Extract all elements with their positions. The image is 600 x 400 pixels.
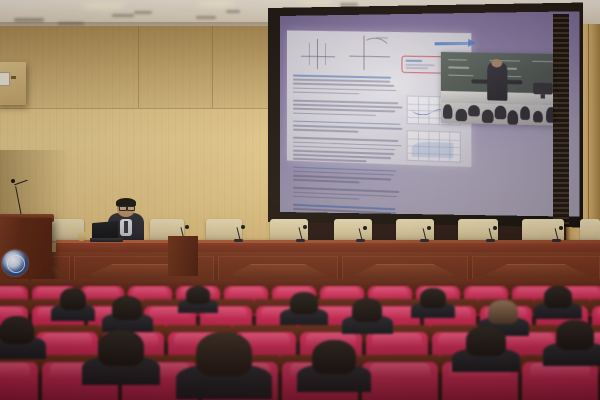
mic-head-4 <box>427 226 431 230</box>
audience-head-12 <box>466 326 506 356</box>
wall-upper-shadow <box>0 26 286 108</box>
eyeglasses-left-lens <box>119 206 127 211</box>
screen-vignette <box>280 11 580 216</box>
audience-head-11 <box>312 340 356 374</box>
mic-base-3 <box>356 239 365 242</box>
seat-highlight <box>372 333 422 347</box>
head-table-chair-4 <box>334 219 372 241</box>
ceiling-vent-4 <box>196 16 216 19</box>
wall-box-indicator <box>11 76 16 79</box>
head-table-edge <box>56 240 600 243</box>
wall-seam-v-1 <box>138 26 139 108</box>
podium-emblem-ring <box>7 255 25 273</box>
audience-head-5 <box>420 288 446 308</box>
ceiling-light-1 <box>196 1 236 7</box>
wall-seam-v-2 <box>212 26 213 108</box>
seat-highlight <box>468 287 503 298</box>
mic-base-1 <box>234 239 243 242</box>
audience-head-1 <box>112 296 142 320</box>
mic-base-2 <box>296 239 305 242</box>
projection-screen <box>280 11 580 216</box>
audience-head-9 <box>98 330 144 366</box>
audience-seat <box>362 362 438 400</box>
seat-highlight <box>0 363 30 378</box>
ceiling-vent-2 <box>112 14 134 17</box>
audience-head-10 <box>196 332 252 376</box>
audience-head-4 <box>352 298 382 322</box>
lecture-hall-photo <box>0 0 600 400</box>
screen-right-edge <box>553 14 569 226</box>
mic-base-5 <box>486 239 495 242</box>
audience-head-0 <box>60 288 86 310</box>
secondary-lectern <box>168 236 198 276</box>
wall-seam-0 <box>0 108 286 109</box>
ceiling-vent-5 <box>226 10 240 13</box>
ceiling-light-2 <box>300 0 334 5</box>
seat-highlight <box>372 287 407 298</box>
mic-base-4 <box>420 239 429 242</box>
mic-head-5 <box>493 226 497 230</box>
drinking-cup <box>78 232 85 241</box>
eyeglasses-right-lens <box>127 206 135 211</box>
wall-box-face <box>0 72 10 86</box>
mic-head-1 <box>241 225 245 229</box>
seat-highlight <box>42 333 92 347</box>
head-table-chair-8 <box>580 219 600 241</box>
mic-head-3 <box>363 226 367 230</box>
audience-head-3 <box>290 292 318 314</box>
podium-mic-head <box>11 179 15 183</box>
ceiling-vent-1 <box>58 22 84 25</box>
audience-seat <box>0 362 38 400</box>
audience-head-13 <box>556 320 594 350</box>
seated-speaker-tie <box>124 221 128 233</box>
ceiling-light-0 <box>80 2 126 9</box>
audience-seat <box>522 362 598 400</box>
ceiling-vent-0 <box>14 18 44 22</box>
mic-head-0 <box>185 225 189 229</box>
mic-head-2 <box>303 225 307 229</box>
head-table-chair-5 <box>396 219 434 241</box>
seat-highlight <box>132 287 167 298</box>
audience-head-6 <box>488 300 518 324</box>
seat-highlight <box>84 287 119 298</box>
seat-highlight <box>324 287 359 298</box>
mic-head-6 <box>559 226 563 230</box>
laptop-keyboard <box>90 238 123 242</box>
audience-head-8 <box>0 316 34 344</box>
wall-control-box <box>0 62 26 105</box>
seat-highlight <box>370 363 431 378</box>
audience-head-7 <box>544 286 572 308</box>
audience-head-2 <box>186 286 210 304</box>
ceiling-vent-3 <box>134 11 152 14</box>
mic-base-6 <box>552 239 561 242</box>
seat-highlight <box>0 287 24 298</box>
seat-highlight <box>228 287 263 298</box>
